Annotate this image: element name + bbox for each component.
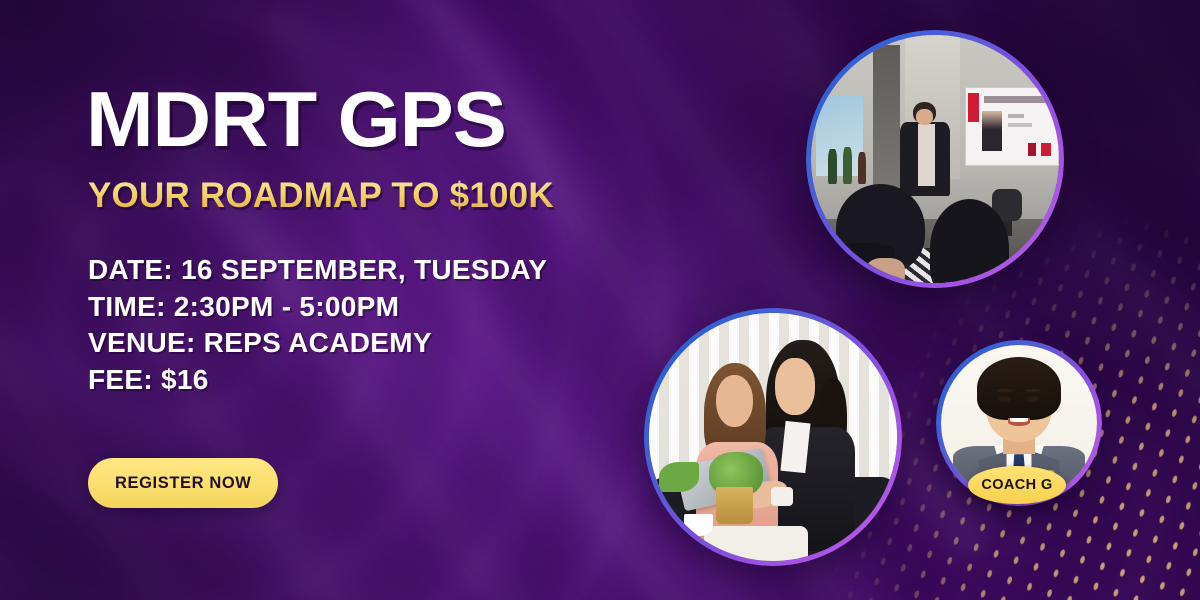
- detail-date: DATE: 16 SEPTEMBER, TUESDAY: [88, 252, 547, 289]
- detail-time: TIME: 2:30PM - 5:00PM: [88, 289, 547, 326]
- register-now-button[interactable]: REGISTER NOW: [88, 458, 278, 508]
- text-content-block: MDRT GPS YOUR ROADMAP TO $100K DATE: 16 …: [86, 0, 706, 600]
- photo-consultation: [644, 308, 902, 566]
- photo-seminar-image: [811, 35, 1059, 283]
- detail-fee: FEE: $16: [88, 362, 547, 399]
- event-banner: MDRT GPS YOUR ROADMAP TO $100K DATE: 16 …: [0, 0, 1200, 600]
- presentation-screen: [965, 87, 1059, 166]
- photo-consultation-image: [649, 313, 897, 561]
- event-details-list: DATE: 16 SEPTEMBER, TUESDAY TIME: 2:30PM…: [88, 252, 547, 399]
- detail-venue: VENUE: REPS ACADEMY: [88, 325, 547, 362]
- page-subtitle: YOUR ROADMAP TO $100K: [88, 176, 554, 216]
- photo-seminar: [806, 30, 1064, 288]
- page-title: MDRT GPS: [86, 82, 506, 157]
- coach-name-badge: COACH G: [968, 466, 1066, 504]
